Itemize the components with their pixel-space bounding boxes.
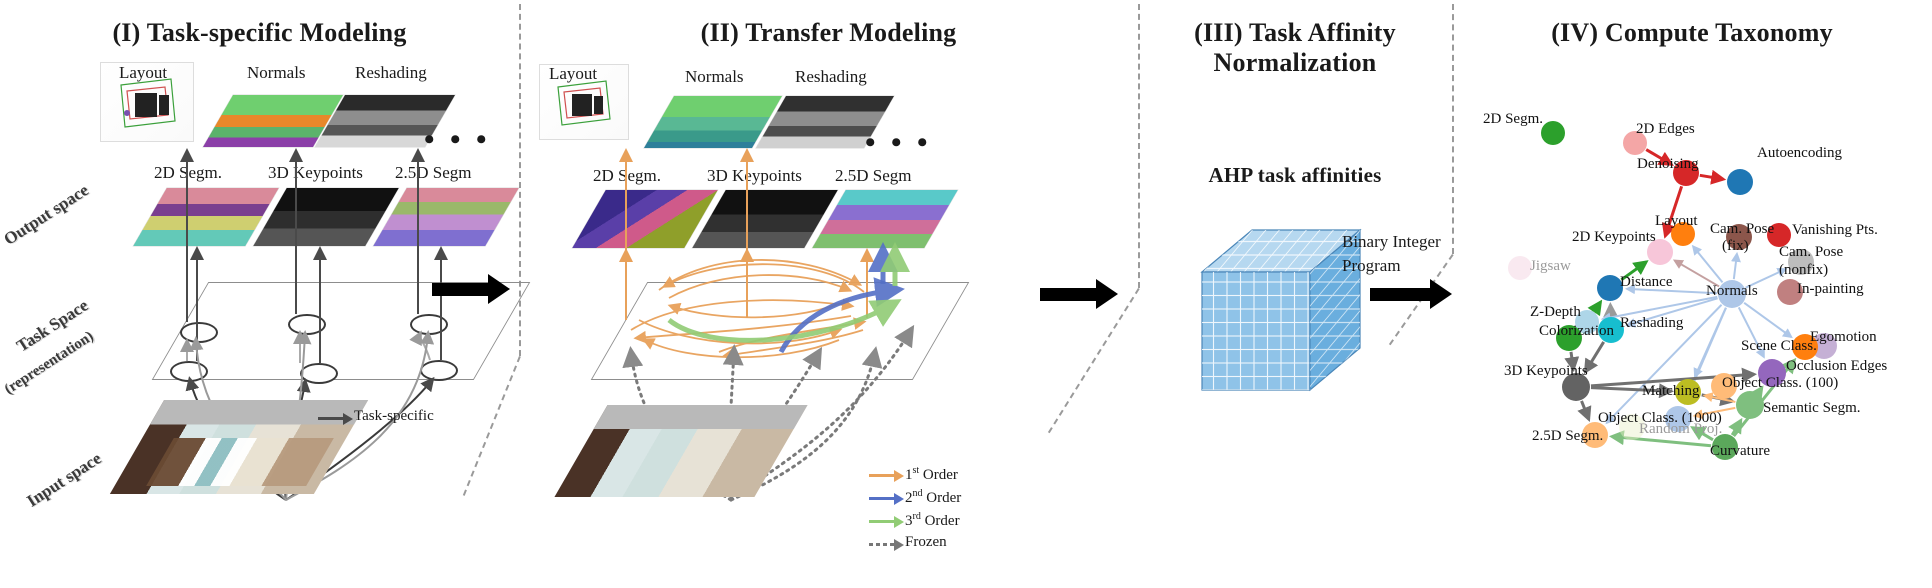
tile-label-layout-2: Layout <box>549 64 597 84</box>
task-node-b2 <box>288 314 326 335</box>
taxonomy-label-25d-segm: 2.5D Segm. <box>1532 428 1603 445</box>
taxonomy-label-cam-pose-non2: (nonfix) <box>1779 262 1828 279</box>
panel-3-title-line2: Normalization <box>1138 48 1452 77</box>
task-node-b1 <box>300 363 338 384</box>
panel-task-affinity-normalization: (III) Task Affinity Normalization AHP ta… <box>1138 0 1452 588</box>
taxonomy-label-vanishing: Vanishing Pts. <box>1792 222 1878 239</box>
legend-line-order-1 <box>869 474 895 477</box>
tile-label-2d-segm-2: 2D Segm. <box>593 166 661 186</box>
taxonomy-label-semantic: Semantic Segm. <box>1763 400 1861 417</box>
tile-label-25d-segm-2: 2.5D Segm <box>835 166 912 186</box>
panel-4-title: (IV) Compute Taxonomy <box>1452 18 1932 47</box>
taxonomy-label-normals: Normals <box>1706 283 1758 300</box>
taxonomy-label-reshading: Reshading <box>1620 315 1683 332</box>
bip-label-line2: Program <box>1342 256 1401 276</box>
taxonomy-label-scene-class: Scene Class. <box>1741 338 1817 355</box>
figure-root: (I) Task-specific Modeling Output space … <box>0 0 1932 588</box>
taxonomy-label-autoencoding: Autoencoding <box>1757 145 1842 162</box>
legend-label-order-2: 2nd Order <box>905 488 961 507</box>
task-space-plane-2 <box>591 282 970 380</box>
taxonomy-label-denoising: Denoising <box>1637 156 1699 173</box>
ellipsis-top-2: • • • <box>865 128 932 158</box>
task-node-c2 <box>410 314 448 335</box>
legend-line-frozen <box>869 543 895 546</box>
taxonomy-label-jigsaw: Jigsaw <box>1530 258 1571 275</box>
panel-1-title: (I) Task-specific Modeling <box>0 18 519 47</box>
axis-label-input-space: Input space <box>23 449 105 512</box>
taxonomy-label-obj-class-100: Object Class. (100) <box>1722 375 1838 392</box>
tile-label-3d-keypoints-2: 3D Keypoints <box>707 166 802 186</box>
legend-line-order-3 <box>869 520 895 523</box>
tile-label-reshading: Reshading <box>355 63 427 83</box>
taxonomy-label-layout: Layout <box>1655 213 1698 230</box>
task-node-c1 <box>420 360 458 381</box>
arrow-panel2-to-panel3 <box>1040 288 1098 301</box>
ellipsis-top-1: • • • <box>424 125 491 155</box>
tile-label-25d-segm: 2.5D Segm <box>395 163 472 183</box>
tile-label-reshading-2: Reshading <box>795 67 867 87</box>
taxonomy-label-cam-pose-fix: Cam. Pose <box>1710 221 1774 238</box>
bip-label-line1: Binary Integer <box>1342 232 1441 252</box>
taxonomy-label-2d-edges: 2D Edges <box>1636 121 1695 138</box>
taxonomy-label-cam-pose-non: Cam. Pose <box>1779 244 1843 261</box>
tile-25d-segm <box>373 188 518 246</box>
affinity-cube <box>1200 228 1390 398</box>
tile-label-layout: Layout <box>119 63 167 83</box>
panel-3-subtitle: AHP task affinities <box>1138 164 1452 188</box>
tile-label-normals: Normals <box>247 63 306 83</box>
tile-label-3d-keypoints: 3D Keypoints <box>268 163 363 183</box>
taxonomy-label-occlusion: Occlusion Edges <box>1786 358 1887 375</box>
tile-label-normals-2: Normals <box>685 67 744 87</box>
taxonomy-label-egomotion: Egomotion <box>1810 329 1877 346</box>
axis-label-output-space: Output space <box>0 180 92 250</box>
panel-2-title: (II) Transfer Modeling <box>519 18 1138 47</box>
taxonomy-label-distance: Distance <box>1620 274 1672 291</box>
task-node-a1 <box>170 361 208 382</box>
arrow-panel1-to-panel2 <box>432 283 490 296</box>
panel-3-title-line1: (III) Task Affinity <box>1138 18 1452 47</box>
taxonomy-label-cam-pose-fix2: (fix) <box>1722 238 1749 255</box>
legend-label-frozen: Frozen <box>905 534 947 551</box>
input-image-2 <box>554 405 807 497</box>
taxonomy-label-curvature: Curvature <box>1710 443 1770 460</box>
taxonomy-label-random-proj: Random Proj. <box>1639 421 1722 438</box>
legend-line-order-2 <box>869 497 895 500</box>
input-image-1-detail <box>146 438 334 486</box>
legend-label-order-1: 1st Order <box>905 465 958 484</box>
tile-25d-segm-2 <box>812 190 957 248</box>
legend-line-task-specific <box>318 417 344 420</box>
taxonomy-label-2d-segm: 2D Segm. <box>1483 111 1543 128</box>
legend-label-task-specific: Task-specific <box>354 408 434 425</box>
taxonomy-label-2d-keypoints: 2D Keypoints <box>1572 229 1656 246</box>
legend-label-order-3: 3rd Order <box>905 511 960 530</box>
taxonomy-label-3d-keypoints: 3D Keypoints <box>1504 363 1588 380</box>
taxonomy-label-matching: Matching <box>1642 383 1700 400</box>
taxonomy-label-inpainting: In-painting <box>1797 281 1864 298</box>
taxonomy-label-z-depth: Z-Depth <box>1530 304 1581 321</box>
task-node-a2 <box>180 322 218 343</box>
taxonomy-label-colorization: Colorization <box>1539 323 1614 340</box>
tile-label-2d-segm: 2D Segm. <box>154 163 222 183</box>
